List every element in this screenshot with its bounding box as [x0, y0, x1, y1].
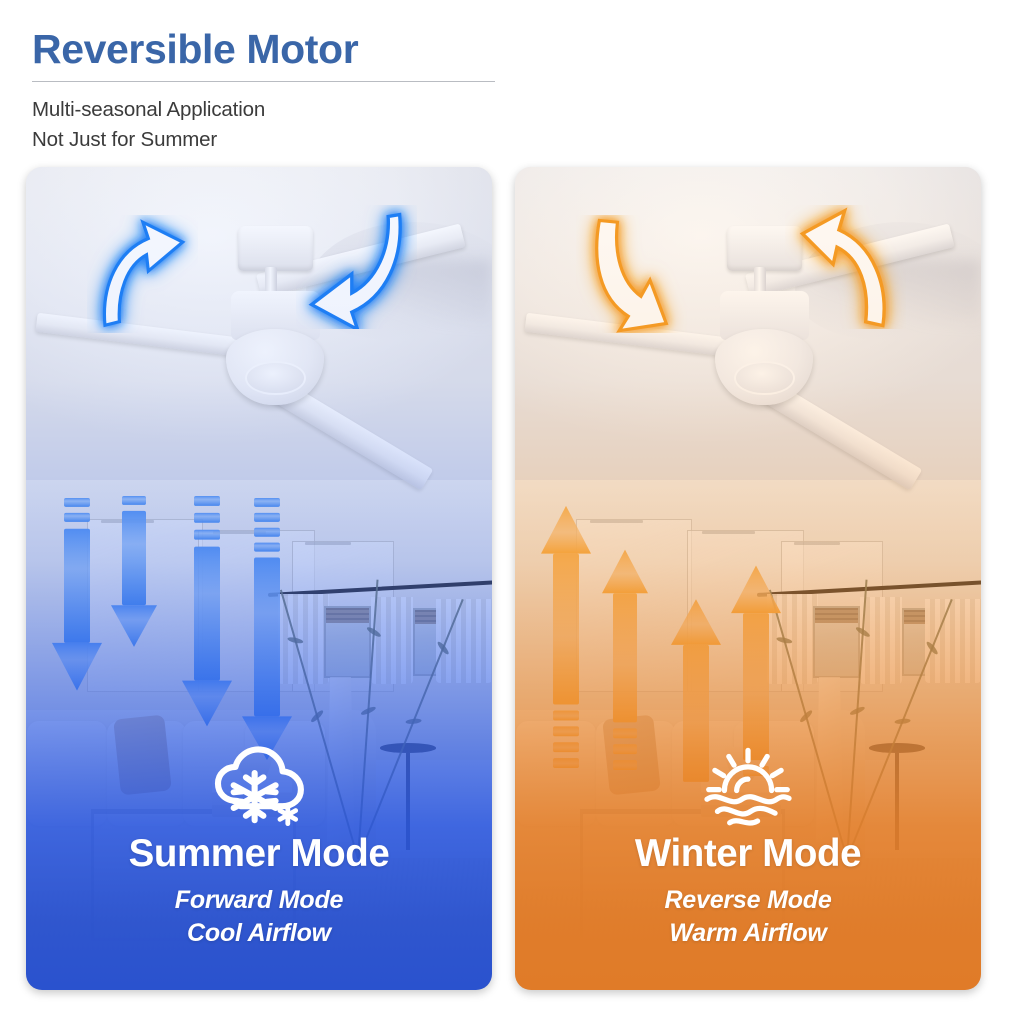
- large-snowflake: [234, 773, 276, 820]
- summer-sub-line-2: Cool Airflow: [26, 917, 492, 950]
- sunrise-waves-icon: [700, 746, 796, 828]
- winter-caption: Winter Mode Reverse Mode Warm Airflow: [515, 746, 981, 950]
- airflow-arrow-down: [242, 498, 292, 760]
- mode-comparison: Summer Mode Forward Mode Cool Airflow: [0, 167, 1024, 997]
- rotation-arrow-right-icon: [296, 205, 417, 329]
- snow-cloud-icon: [211, 746, 307, 828]
- header-subtitle-line-1: Multi-seasonal Application: [32, 95, 502, 125]
- ceiling-fan-winter: [515, 167, 981, 513]
- header: Reversible Motor Multi-seasonal Applicat…: [32, 24, 502, 154]
- fan-light-lens: [245, 361, 306, 396]
- rotation-arrow-left-icon: [576, 215, 688, 333]
- airflow-arrow-down: [52, 498, 102, 691]
- winter-mode-panel[interactable]: Winter Mode Reverse Mode Warm Airflow: [515, 167, 981, 990]
- airflow-arrow-up: [731, 566, 781, 776]
- winter-mode-title: Winter Mode: [515, 832, 981, 876]
- fan-light-lens: [734, 361, 795, 396]
- summer-mode-title: Summer Mode: [26, 832, 492, 876]
- header-subtitle-line-2: Not Just for Summer: [32, 125, 502, 155]
- header-subtitle: Multi-seasonal Application Not Just for …: [32, 95, 502, 154]
- rotation-arrow-left-icon: [87, 215, 199, 333]
- winter-mode-subtitle: Reverse Mode Warm Airflow: [515, 884, 981, 951]
- airflow-arrow-up: [541, 506, 591, 768]
- winter-sub-line-2: Warm Airflow: [515, 917, 981, 950]
- airflow-arrow-down: [111, 496, 157, 647]
- summer-mode-subtitle: Forward Mode Cool Airflow: [26, 884, 492, 951]
- water-waves: [707, 797, 789, 823]
- sun-inner-arc: [737, 779, 748, 790]
- airflow-arrow-up: [602, 550, 648, 770]
- summer-sub-line-1: Forward Mode: [26, 884, 492, 917]
- summer-mode-panel[interactable]: Summer Mode Forward Mode Cool Airflow: [26, 167, 492, 990]
- airflow-arrow-down: [182, 496, 232, 726]
- summer-caption: Summer Mode Forward Mode Cool Airflow: [26, 746, 492, 950]
- ceiling-fan-summer: [26, 167, 492, 513]
- header-divider: [32, 81, 495, 82]
- rotation-arrow-right-icon: [785, 205, 906, 329]
- page-title: Reversible Motor: [32, 24, 502, 75]
- winter-sub-line-1: Reverse Mode: [515, 884, 981, 917]
